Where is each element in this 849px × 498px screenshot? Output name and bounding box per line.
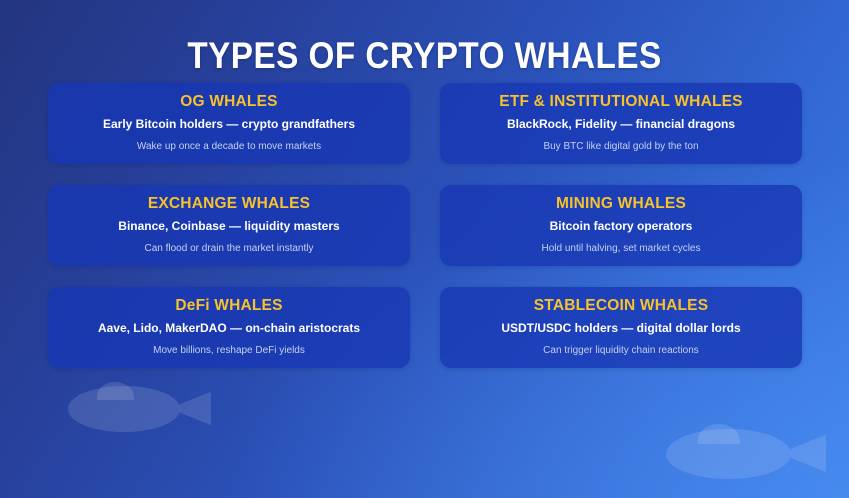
whale-icon bbox=[666, 424, 826, 484]
whale-type-card-exchange: EXCHANGE WHALES Binance, Coinbase — liqu… bbox=[48, 185, 410, 266]
card-title: OG WHALES bbox=[180, 92, 277, 111]
card-detail: Move billions, reshape DeFi yields bbox=[153, 344, 305, 357]
card-title: EXCHANGE WHALES bbox=[148, 194, 310, 213]
whale-type-card-stablecoin: STABLECOIN WHALES USDT/USDC holders — di… bbox=[440, 287, 802, 368]
whale-body bbox=[666, 429, 791, 479]
card-title: ETF & INSTITUTIONAL WHALES bbox=[499, 92, 742, 111]
card-detail: Can trigger liquidity chain reactions bbox=[543, 344, 699, 357]
whale-body bbox=[68, 386, 180, 431]
card-title: MINING WHALES bbox=[556, 194, 686, 213]
card-title: DeFi WHALES bbox=[175, 296, 282, 315]
card-detail: Buy BTC like digital gold by the ton bbox=[543, 140, 698, 153]
card-subtitle: Binance, Coinbase — liquidity masters bbox=[118, 219, 339, 235]
whale-dorsal-hump bbox=[698, 424, 740, 444]
infographic-poster: TYPES OF CRYPTO WHALES OG WHALES Early B… bbox=[0, 0, 849, 498]
whale-types-grid: OG WHALES Early Bitcoin holders — crypto… bbox=[48, 83, 802, 368]
card-subtitle: Early Bitcoin holders — crypto grandfath… bbox=[103, 117, 355, 133]
whale-tail bbox=[788, 435, 826, 472]
card-subtitle: BlackRock, Fidelity — financial dragons bbox=[507, 117, 735, 133]
page-title: TYPES OF CRYPTO WHALES bbox=[42, 35, 806, 77]
card-title: STABLECOIN WHALES bbox=[534, 296, 708, 315]
whale-tail bbox=[177, 392, 211, 425]
whale-type-card-defi: DeFi WHALES Aave, Lido, MakerDAO — on-ch… bbox=[48, 287, 410, 368]
whale-icon bbox=[68, 382, 211, 436]
whale-dorsal-hump bbox=[97, 382, 134, 400]
whale-type-card-mining: MINING WHALES Bitcoin factory operators … bbox=[440, 185, 802, 266]
card-subtitle: Aave, Lido, MakerDAO — on-chain aristocr… bbox=[98, 321, 360, 337]
card-subtitle: USDT/USDC holders — digital dollar lords bbox=[501, 321, 740, 337]
whale-type-card-og: OG WHALES Early Bitcoin holders — crypto… bbox=[48, 83, 410, 164]
card-detail: Wake up once a decade to move markets bbox=[137, 140, 321, 153]
card-detail: Hold until halving, set market cycles bbox=[542, 242, 701, 255]
card-detail: Can flood or drain the market instantly bbox=[145, 242, 314, 255]
whale-type-card-etf-institutional: ETF & INSTITUTIONAL WHALES BlackRock, Fi… bbox=[440, 83, 802, 164]
card-subtitle: Bitcoin factory operators bbox=[550, 219, 693, 235]
